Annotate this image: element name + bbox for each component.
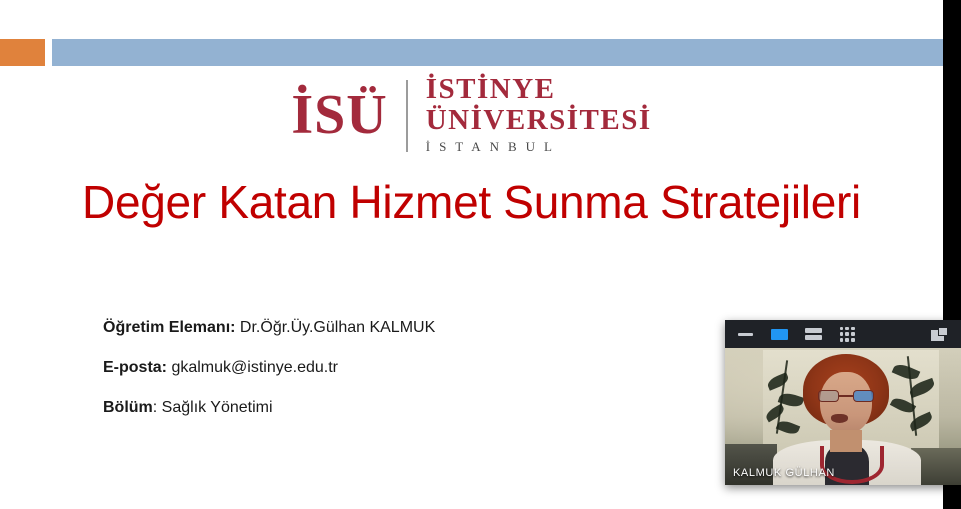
- participant-mouth: [831, 414, 848, 423]
- participant-face: [820, 372, 872, 434]
- video-feed[interactable]: KALMUK GÜLHAN: [725, 348, 961, 485]
- meta-label-department: Bölüm: [103, 399, 153, 416]
- meta-value-instructor: Dr.Öğr.Üy.Gülhan KALMUK: [235, 319, 435, 336]
- participant-glasses: [818, 390, 874, 402]
- split-view-icon[interactable]: [803, 325, 823, 343]
- logo-name-line-2: ÜNİVERSİTESİ: [426, 105, 652, 136]
- gallery-view-icon[interactable]: [837, 325, 857, 343]
- logo-city-line: İSTANBUL: [426, 138, 652, 156]
- slide-meta-block: Öğretim Elemanı: Dr.Öğr.Üy.Gülhan KALMUK…: [103, 318, 435, 438]
- video-toolbar: [725, 320, 961, 348]
- slide-screen: İSÜ İSTİNYE ÜNİVERSİTESİ İSTANBUL Değer …: [0, 0, 961, 509]
- university-logo: İSÜ İSTİNYE ÜNİVERSİTESİ İSTANBUL: [0, 74, 943, 156]
- logo-monogram: İSÜ: [291, 74, 405, 156]
- meta-line-department: Bölüm: Sağlık Yönetimi: [103, 398, 435, 417]
- slide-title: Değer Katan Hizmet Sunma Stratejileri: [0, 174, 943, 230]
- picture-in-picture-icon[interactable]: [929, 325, 949, 343]
- accent-bar-blue: [52, 39, 943, 66]
- speaker-view-icon[interactable]: [769, 325, 789, 343]
- meta-line-instructor: Öğretim Elemanı: Dr.Öğr.Üy.Gülhan KALMUK: [103, 318, 435, 337]
- meta-value-email: gkalmuk@istinye.edu.tr: [167, 359, 338, 376]
- minimize-icon[interactable]: [735, 325, 755, 343]
- participant-name-label: KALMUK GÜLHAN: [733, 467, 835, 480]
- meta-label-instructor: Öğretim Elemanı:: [103, 319, 235, 336]
- meta-value-department: : Sağlık Yönetimi: [153, 399, 273, 416]
- video-conference-panel: KALMUK GÜLHAN: [725, 320, 961, 485]
- meta-label-email: E-posta:: [103, 359, 167, 376]
- meta-line-email: E-posta: gkalmuk@istinye.edu.tr: [103, 358, 435, 377]
- accent-bar-orange: [0, 39, 45, 66]
- logo-name-line-1: İSTİNYE: [426, 74, 652, 105]
